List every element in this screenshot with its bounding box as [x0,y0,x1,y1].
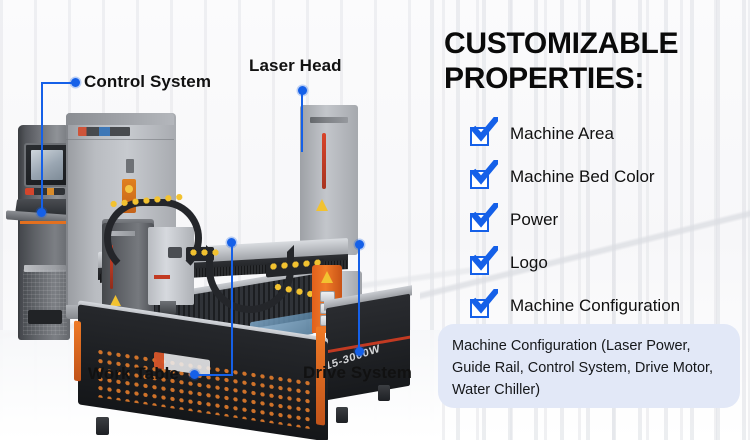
control-buttons [25,188,65,195]
checkmark-icon [472,160,498,186]
list-item-label: Logo [510,253,548,273]
checkmark-icon [472,246,498,272]
page-title-line2: PROPERTIES: [444,61,744,96]
list-item-label: Machine Configuration [510,296,680,316]
machine-foot [336,407,348,423]
callout-anchor-control-system [37,208,46,217]
callout-label-drive-system: Drive System [303,363,412,383]
callout-dot-laser-head [298,86,307,95]
machine-foot [96,417,109,435]
callout-dot-drive-system [355,347,364,356]
callout-dot-work-table [190,370,199,379]
list-item[interactable]: Logo [470,253,750,288]
checkmark-icon [472,203,498,229]
electrical-cabinet-top [66,113,174,125]
list-item-label: Power [510,210,558,230]
electrical-cabinet-logo [78,127,130,136]
page-title: CUSTOMIZABLE PROPERTIES: [444,26,744,97]
list-item-label: Machine Bed Color [510,167,655,187]
control-cabinet-vent [28,310,62,324]
machine-foot [378,385,390,401]
rear-column-strip [322,133,326,189]
electrical-panel [126,159,134,173]
callout-line-control-system [41,82,75,84]
list-item[interactable]: Machine Bed Color [470,167,750,202]
callout-line-work-table [197,374,233,376]
callout-line-work-table-vertical [231,242,233,376]
callout-dot-control-system [71,78,80,87]
configuration-note-text: Machine Configuration (Laser Power, Guid… [452,335,726,401]
callout-line-laser-head [301,92,303,152]
control-screen [24,143,70,187]
electrical-cabinet-seam [66,139,174,140]
list-item[interactable]: Machine Area [470,124,750,159]
callout-line-control-system-vertical [41,82,43,213]
checkmark-icon [472,289,498,315]
callout-line-drive-system [358,244,360,350]
configuration-note: Machine Configuration (Laser Power, Guid… [438,324,740,408]
customizable-properties-list: Machine Area Machine Bed Color Power Log… [470,124,750,339]
drag-chain-pins [188,247,222,259]
callout-label-control-system: Control System [84,72,211,92]
cable-drag-chain-upper [104,199,202,277]
callout-label-laser-head: Laser Head [249,56,342,76]
control-cabinet-accent [20,221,70,224]
page-title-line1: CUSTOMIZABLE [444,26,744,61]
callout-anchor-drive-system [355,240,364,249]
callout-anchor-work-table [227,238,236,247]
list-item[interactable]: Power [470,210,750,245]
list-item-label: Machine Area [510,124,614,144]
rear-column-label [310,117,348,123]
rear-column [300,105,358,255]
callout-label-work-table: Work Table [88,364,179,384]
control-cabinet-brand [24,265,66,272]
checkmark-icon [472,117,498,143]
bed-accent-left [74,320,81,381]
product-infographic: 3015-3000W Control System Laser Head Wor… [0,0,750,440]
